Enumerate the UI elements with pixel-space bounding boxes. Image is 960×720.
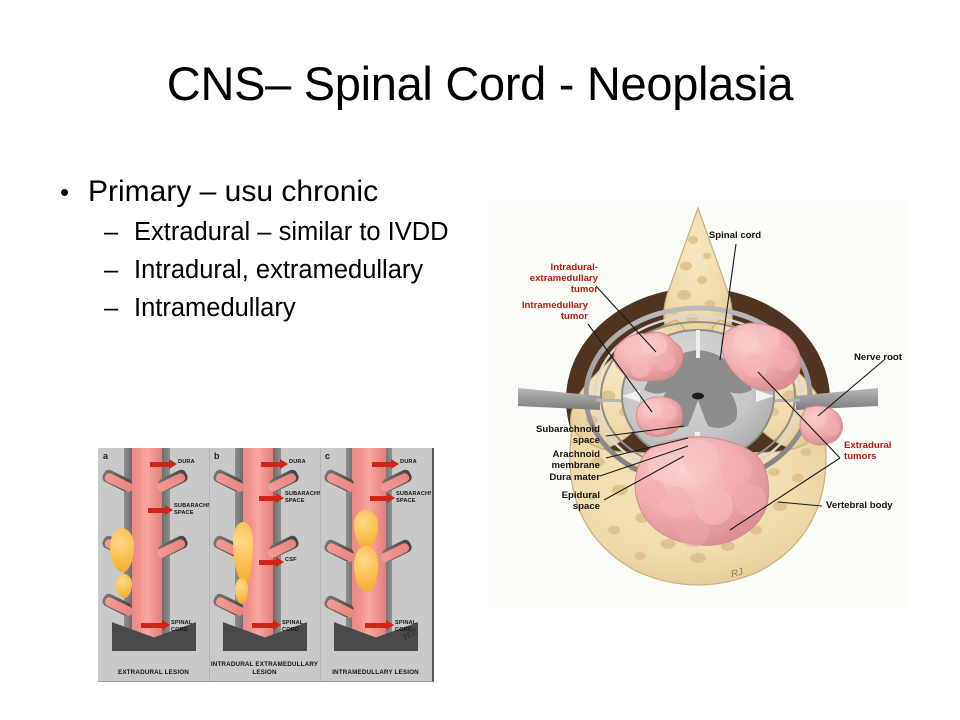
arrow-subarachnoid: [370, 496, 388, 501]
label-extradural-tumors-1: Extradural: [844, 440, 891, 451]
bullet-intradural-extramedullary: – Intradural, extramedullary: [52, 252, 452, 288]
bullet-intramedullary-label: Intramedullary: [134, 290, 452, 326]
central-canal: [692, 393, 704, 400]
vertebra-cross-section-figure: Spinal cord Intradural- extramedullary t…: [488, 200, 908, 607]
label-subarachnoid-2: SPACE: [174, 510, 194, 517]
lesion-panel-figure: a DURA SUBARACHNOID SPACE SPINAL CORD: [98, 448, 434, 682]
panel-intramedullary: c DURA SUBARACHNOID SPACE SPINAL CORD: [320, 448, 431, 681]
cord-graphic: [320, 448, 431, 681]
arrow-subarachnoid: [148, 508, 166, 513]
cord-graphic: [98, 448, 209, 681]
label-nerve-root: Nerve root: [854, 352, 902, 363]
bullet-extradural: – Extradural – similar to IVDD: [52, 214, 452, 250]
label-spinal-cord: Spinal cord: [670, 230, 800, 241]
bullet-marker: –: [104, 214, 118, 250]
intramedullary-tumor-shape: [636, 397, 682, 436]
arrow-spinal-cord: [365, 623, 387, 628]
bullet-intradural-extramedullary-label: Intradural, extramedullary: [134, 252, 452, 288]
arrow-csf: [259, 560, 277, 565]
bullet-marker: –: [104, 290, 118, 326]
arrow-dura: [150, 462, 170, 467]
panel-letter-a: a: [103, 451, 108, 461]
bullet-intramedullary: – Intramedullary: [52, 290, 452, 326]
bullet-marker: –: [104, 252, 118, 288]
bullet-primary-label: Primary – usu chronic: [88, 175, 378, 208]
label-arachnoid-membrane-2: membrane: [488, 460, 600, 471]
label-intradural-extramedullary-tumor-2: extramedullary: [488, 273, 598, 284]
label-spinal-cord: SPINAL CORD: [282, 620, 320, 634]
page-title: CNS– Spinal Cord - Neoplasia: [0, 56, 960, 111]
label-subarachnoid: SUBARACHNOID: [285, 491, 320, 498]
arrow-dura: [261, 462, 281, 467]
label-spinal-cord: SPINAL CORD: [171, 620, 209, 634]
label-intradural-extramedullary-tumor-1: Intradural-: [488, 262, 598, 273]
panel-letter-b: b: [214, 451, 220, 461]
label-epidural-space-1: Epidural: [488, 490, 600, 501]
bullet-primary: • Primary – usu chronic: [52, 172, 452, 212]
label-intramedullary-tumor-1: Intramedullary: [488, 300, 588, 311]
label-epidural-space-2: space: [488, 501, 600, 512]
panel-intradural-extramedullary: b DURA SUBARACHNOID SPACE CSF: [209, 448, 320, 681]
panel-extradural: a DURA SUBARACHNOID SPACE SPINAL CORD: [98, 448, 209, 681]
posterior-fissure: [696, 330, 700, 358]
bullet-list: • Primary – usu chronic – Extradural – s…: [52, 172, 452, 326]
label-intramedullary-tumor-2: tumor: [488, 311, 588, 322]
label-extradural-tumors-2: tumors: [844, 451, 877, 462]
panel-caption-intradural-extramedullary: INTRADURAL EXTRAMEDULLARY LESION: [209, 661, 320, 677]
label-subarachnoid-space-2: space: [488, 435, 600, 446]
panel-caption-extradural: EXTRADURAL LESION: [98, 669, 209, 677]
bullet-extradural-label: Extradural – similar to IVDD: [134, 214, 452, 250]
label-dura: DURA: [289, 459, 306, 466]
arrow-spinal-cord: [141, 623, 163, 628]
label-dura-mater: Dura mater: [488, 472, 600, 483]
label-subarachnoid: SUBARACHNOID: [396, 491, 431, 498]
label-vertebral-body: Vertebral body: [826, 500, 893, 511]
arrow-subarachnoid: [259, 496, 277, 501]
panel-caption-intramedullary: INTRAMEDULLARY LESION: [320, 669, 431, 677]
label-dura: DURA: [400, 459, 417, 466]
label-subarachnoid-2: SPACE: [285, 498, 305, 505]
label-arachnoid-membrane-1: Arachnoid: [488, 449, 600, 460]
label-dura: DURA: [178, 459, 195, 466]
label-csf: CSF: [285, 557, 297, 564]
label-subarachnoid-space-1: Subarachnoid: [488, 424, 600, 435]
panel-letter-c: c: [325, 451, 330, 461]
arrow-dura: [372, 462, 392, 467]
label-subarachnoid-2: SPACE: [396, 498, 416, 505]
label-subarachnoid: SUBARACHNOID: [174, 503, 209, 510]
bullet-marker: •: [60, 172, 69, 212]
label-intradural-extramedullary-tumor-3: tumor: [488, 284, 598, 295]
arrow-spinal-cord: [252, 623, 274, 628]
